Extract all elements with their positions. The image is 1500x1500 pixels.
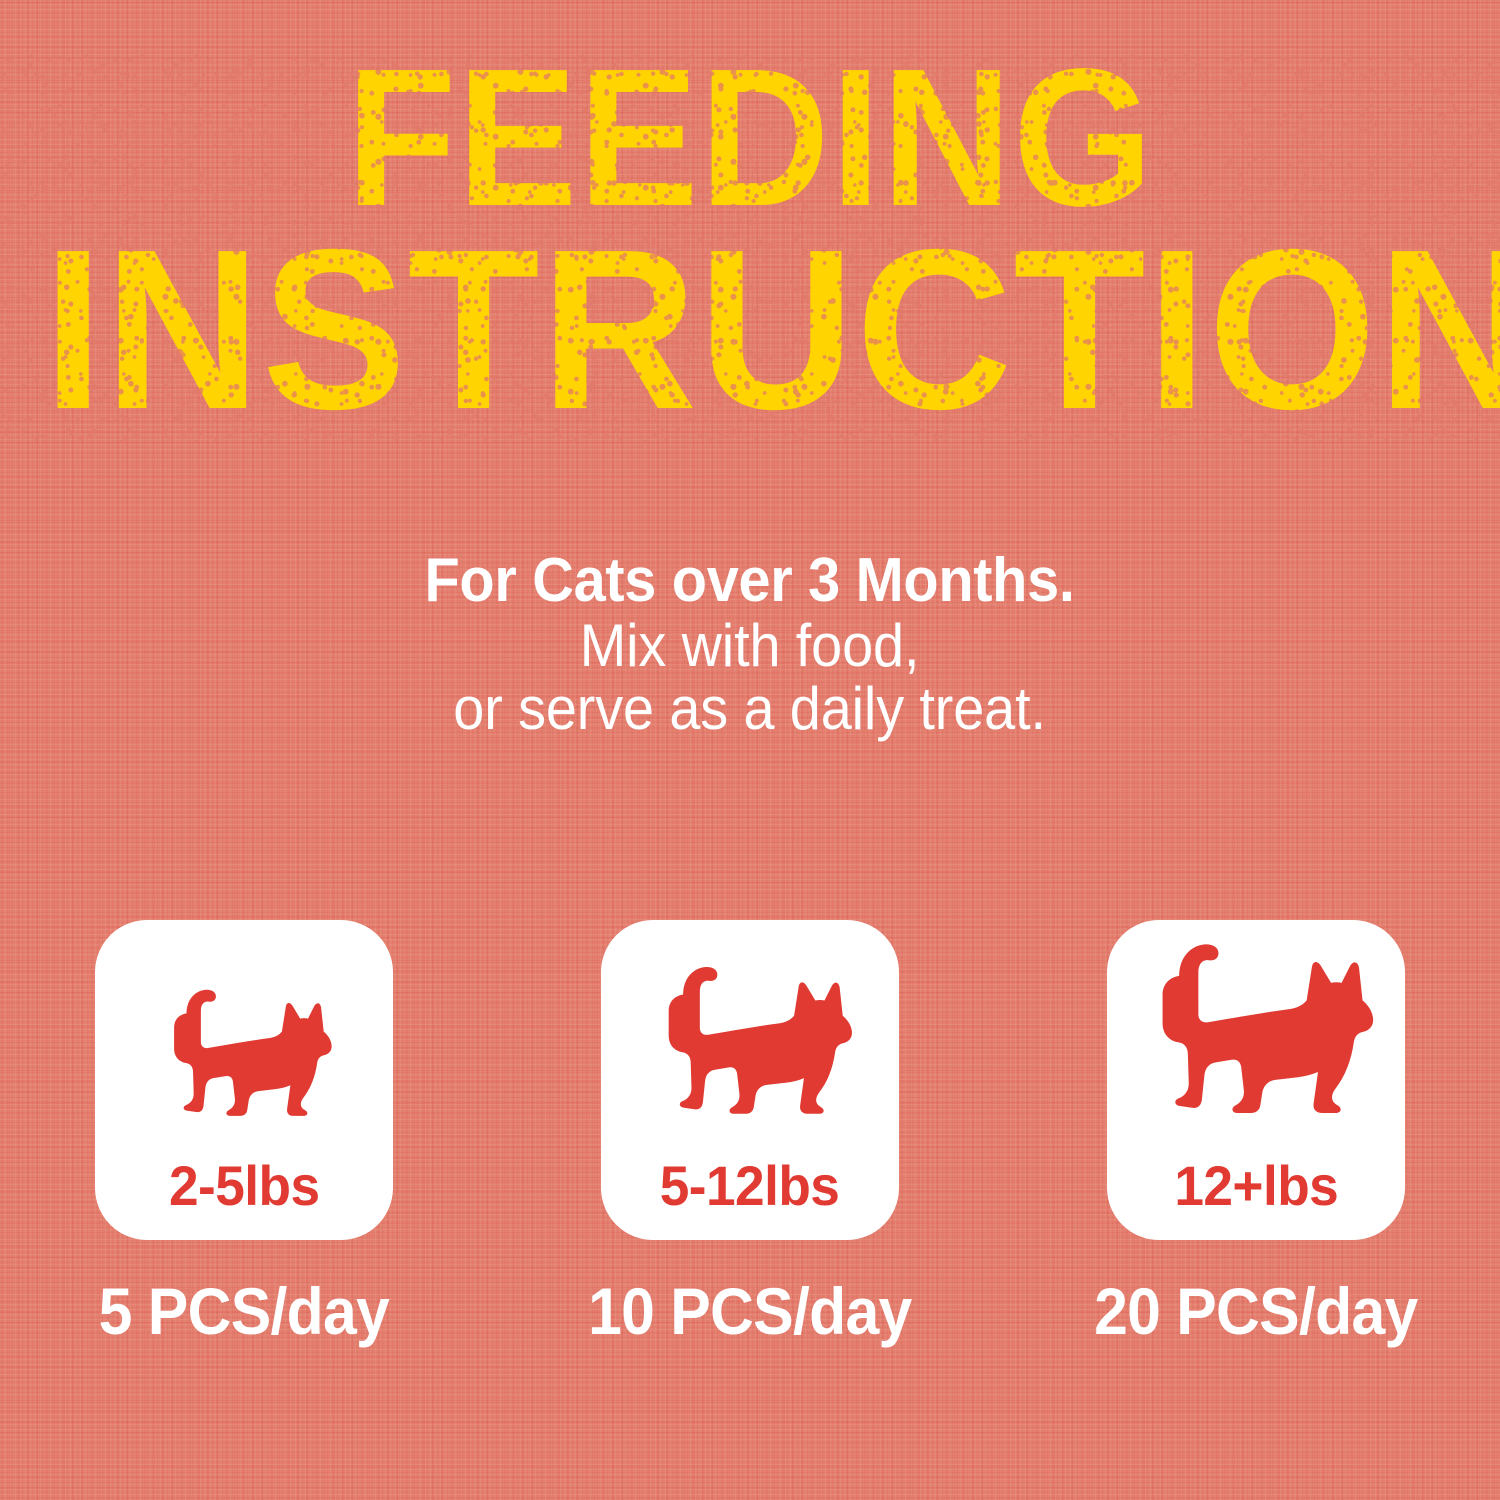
weight-card: 5-12lbs xyxy=(601,920,899,1240)
feeding-instructions-poster: FEEDING INSTRUCTIONS For Cats over 3 Mon… xyxy=(0,0,1500,1500)
dose-label: 5 PCS/day xyxy=(86,1278,402,1344)
title-line-feeding: FEEDING xyxy=(0,52,1500,224)
dosage-card-row: 2-5lbs 5 PCS/day 5-12lbs 10 PCS/day xyxy=(0,920,1500,1344)
title-line-instructions: INSTRUCTIONS xyxy=(0,230,1500,431)
weight-card: 2-5lbs xyxy=(95,920,393,1240)
instructions-line-1: For Cats over 3 Months. xyxy=(0,548,1500,614)
dose-label: 20 PCS/day xyxy=(1080,1278,1432,1344)
weight-card: 12+lbs xyxy=(1107,920,1405,1240)
cat-silhouette-icon xyxy=(146,982,342,1119)
dosage-card-large: 12+lbs 20 PCS/day xyxy=(1106,920,1406,1344)
weight-range-label: 2-5lbs xyxy=(165,1158,324,1214)
cat-silhouette-icon xyxy=(1125,934,1387,1117)
weight-range-label: 5-12lbs xyxy=(655,1158,844,1214)
instructions-line-2: Mix with food, xyxy=(0,614,1500,678)
dose-label: 10 PCS/day xyxy=(574,1278,926,1344)
instructions-line-3: or serve as a daily treat. xyxy=(0,677,1500,741)
weight-range-label: 12+lbs xyxy=(1170,1158,1343,1214)
dosage-card-small: 2-5lbs 5 PCS/day xyxy=(94,920,394,1344)
dosage-card-medium: 5-12lbs 10 PCS/day xyxy=(600,920,900,1344)
instructions-text: For Cats over 3 Months. Mix with food, o… xyxy=(0,548,1500,741)
page-title: FEEDING INSTRUCTIONS xyxy=(0,52,1500,431)
cat-silhouette-icon xyxy=(636,958,864,1118)
